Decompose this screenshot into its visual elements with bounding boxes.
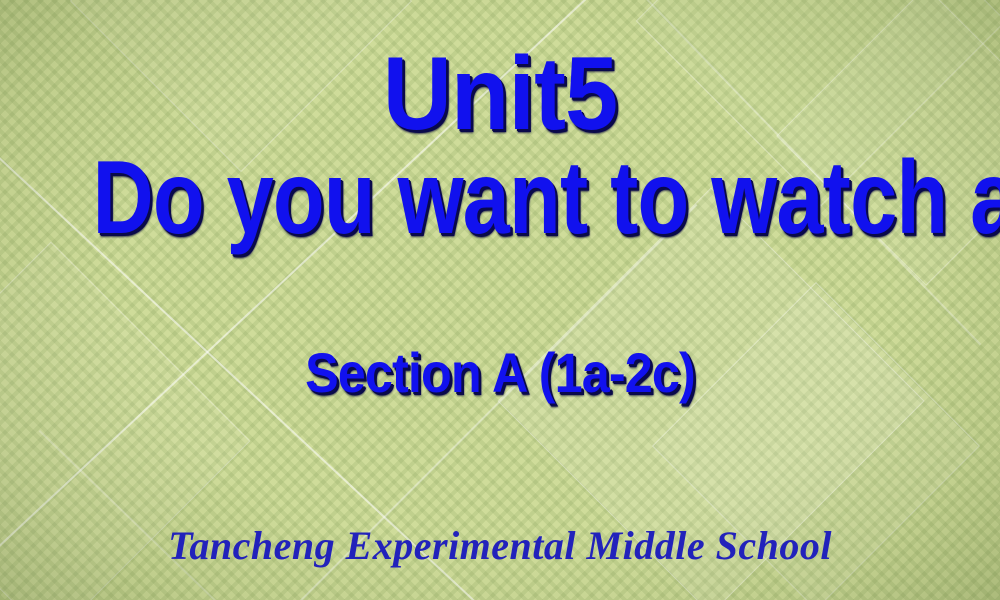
slide-title: Unit5 Do you want to watch a game show? [0, 44, 1000, 250]
title-unit-line: Unit5 [40, 44, 960, 146]
title-main-line: Do you want to watch a game show? [93, 148, 908, 250]
school-name-footer: Tancheng Experimental Middle School [0, 522, 1000, 569]
slide-content: Unit5 Do you want to watch a game show? … [0, 0, 1000, 600]
slide-subtitle: Section A (1a-2c) [50, 340, 950, 405]
presentation-slide: Unit5 Do you want to watch a game show? … [0, 0, 1000, 600]
